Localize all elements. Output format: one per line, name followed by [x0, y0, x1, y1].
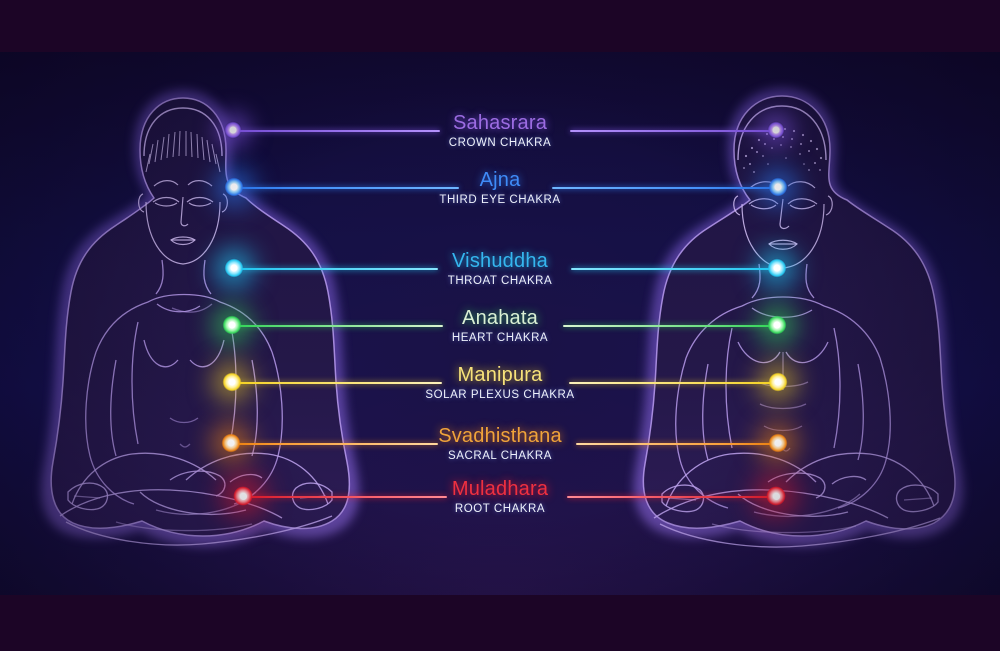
- leader-line-right-muladhara: [567, 496, 776, 498]
- chakra-name-ajna: Ajna: [439, 170, 560, 191]
- chakra-point-vishuddha-left[interactable]: [225, 259, 244, 278]
- chakra-point-vishuddha-right[interactable]: [768, 259, 787, 278]
- chakra-label-anahata[interactable]: Anahata HEART CHAKRA: [452, 308, 548, 346]
- chakra-subtitle-vishuddha: THROAT CHAKRA: [448, 274, 552, 289]
- leader-line-left-sahasrara: [233, 130, 440, 132]
- chakra-infographic: Sahasrara CROWN CHAKRA Ajna THIRD EYE CH…: [0, 0, 1000, 651]
- chakra-name-anahata: Anahata: [452, 308, 548, 329]
- chakra-name-muladhara: Muladhara: [452, 479, 548, 500]
- leader-line-left-manipura: [232, 382, 442, 384]
- chakra-label-ajna[interactable]: Ajna THIRD EYE CHAKRA: [439, 170, 560, 208]
- chakra-label-vishuddha[interactable]: Vishuddha THROAT CHAKRA: [448, 251, 552, 289]
- chakra-point-anahata-left[interactable]: [223, 316, 242, 335]
- chakra-point-svadhisthana-left[interactable]: [222, 434, 241, 453]
- leader-line-right-ajna: [552, 187, 778, 189]
- leader-line-right-sahasrara: [570, 130, 776, 132]
- chakra-name-vishuddha: Vishuddha: [448, 251, 552, 272]
- chakra-subtitle-svadhisthana: SACRAL CHAKRA: [438, 449, 562, 464]
- chakra-label-layer: Sahasrara CROWN CHAKRA Ajna THIRD EYE CH…: [0, 52, 1000, 595]
- chakra-name-sahasrara: Sahasrara: [449, 113, 551, 134]
- leader-line-right-vishuddha: [571, 268, 777, 270]
- chakra-subtitle-anahata: HEART CHAKRA: [452, 331, 548, 346]
- leader-line-left-ajna: [234, 187, 459, 189]
- chakra-subtitle-muladhara: ROOT CHAKRA: [452, 502, 548, 517]
- chakra-point-manipura-right[interactable]: [769, 373, 788, 392]
- bottom-border-band: [0, 595, 1000, 651]
- chakra-point-sahasrara-left[interactable]: [225, 122, 242, 139]
- chakra-subtitle-sahasrara: CROWN CHAKRA: [449, 136, 551, 151]
- chakra-label-manipura[interactable]: Manipura SOLAR PLEXUS CHAKRA: [425, 365, 574, 403]
- chakra-point-anahata-right[interactable]: [768, 316, 787, 335]
- chakra-subtitle-manipura: SOLAR PLEXUS CHAKRA: [425, 388, 574, 403]
- chakra-point-sahasrara-right[interactable]: [768, 122, 785, 139]
- chakra-name-manipura: Manipura: [425, 365, 574, 386]
- leader-line-right-anahata: [563, 325, 777, 327]
- chakra-label-muladhara[interactable]: Muladhara ROOT CHAKRA: [452, 479, 548, 517]
- chakra-point-ajna-right[interactable]: [769, 178, 788, 197]
- chakra-point-muladhara-right[interactable]: [766, 486, 786, 506]
- leader-line-right-manipura: [569, 382, 778, 384]
- chakra-point-ajna-left[interactable]: [225, 178, 244, 197]
- diagram-scene: Sahasrara CROWN CHAKRA Ajna THIRD EYE CH…: [0, 52, 1000, 595]
- leader-line-left-muladhara: [243, 496, 447, 498]
- chakra-label-sahasrara[interactable]: Sahasrara CROWN CHAKRA: [449, 113, 551, 151]
- leader-line-left-vishuddha: [234, 268, 438, 270]
- chakra-label-svadhisthana[interactable]: Svadhisthana SACRAL CHAKRA: [438, 426, 562, 464]
- chakra-point-manipura-left[interactable]: [223, 373, 242, 392]
- leader-line-left-svadhisthana: [231, 443, 438, 445]
- top-border-band: [0, 0, 1000, 52]
- chakra-point-muladhara-left[interactable]: [233, 486, 253, 506]
- leader-line-left-anahata: [232, 325, 443, 327]
- chakra-subtitle-ajna: THIRD EYE CHAKRA: [439, 193, 560, 208]
- chakra-point-svadhisthana-right[interactable]: [769, 434, 788, 453]
- chakra-name-svadhisthana: Svadhisthana: [438, 426, 562, 447]
- leader-line-right-svadhisthana: [576, 443, 778, 445]
